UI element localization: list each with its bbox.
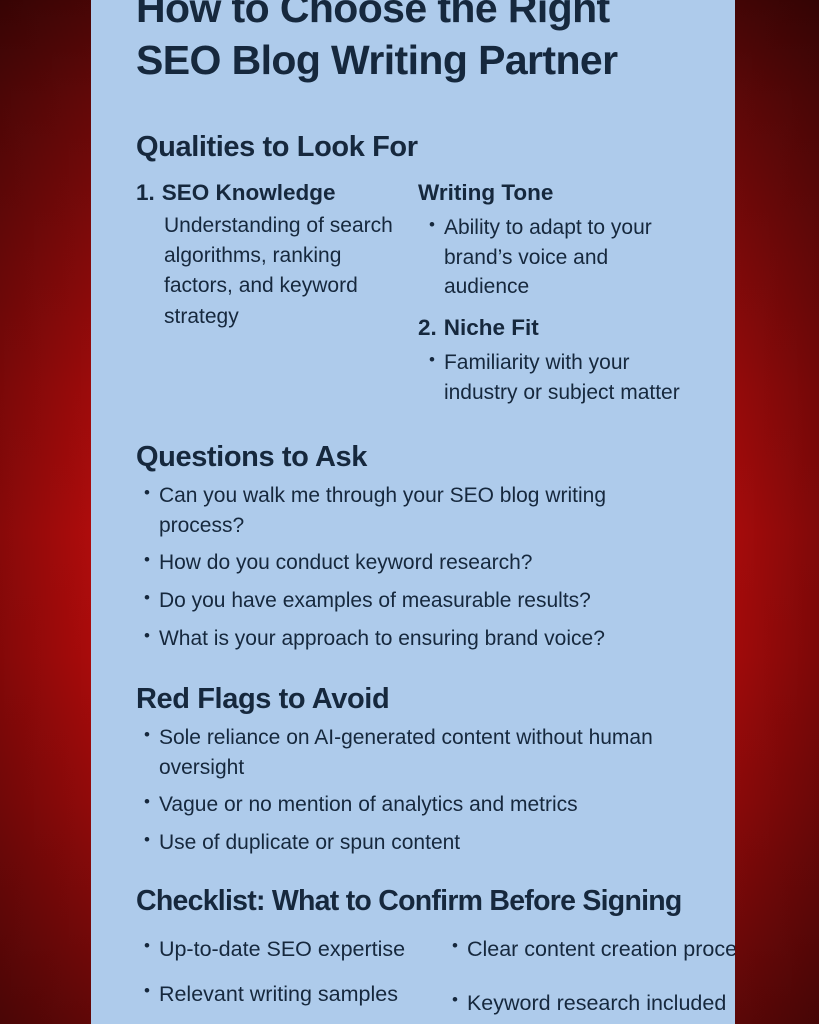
list-item: • What is your approach to ensuring bran…: [144, 624, 691, 654]
bullet-dot-icon: •: [144, 790, 150, 820]
list-item: • Keyword research included: [452, 988, 735, 1019]
bullet-dot-icon: •: [144, 934, 150, 965]
checklist-left-column: • Up-to-date SEO expertise • Relevant wr…: [136, 928, 436, 1024]
red-flags-list: • Sole reliance on AI-generated content …: [136, 723, 691, 858]
quality-item-title-niche-fit: 2. Niche Fit: [418, 314, 691, 342]
list-item: • How do you conduct keyword research?: [144, 548, 691, 578]
list-item: • Relevant writing samples: [144, 979, 436, 1010]
list-item-text: Familiarity with your industry or subjec…: [444, 348, 691, 408]
list-item-text: Ability to adapt to your brand’s voice a…: [444, 213, 691, 302]
list-item: • Use of duplicate or spun content: [144, 828, 691, 858]
checklist-right-column: • Clear content creation process • Keywo…: [444, 928, 735, 1024]
bullet-dot-icon: •: [144, 586, 150, 616]
section-heading-qualities: Qualities to Look For: [136, 130, 691, 165]
section-heading-questions: Questions to Ask: [136, 440, 691, 475]
bullet-dot-icon: •: [144, 723, 150, 783]
writing-tone-bullet-list: • Ability to adapt to your brand’s voice…: [418, 213, 691, 302]
list-item: • Up-to-date SEO expertise: [144, 934, 436, 965]
list-item-text: How do you conduct keyword research?: [159, 548, 533, 578]
list-item-text: Vague or no mention of analytics and met…: [159, 790, 578, 820]
section-heading-red-flags: Red Flags to Avoid: [136, 682, 691, 717]
qualities-left-column: 1. SEO Knowledge Understanding of search…: [136, 179, 404, 410]
quality-label: SEO Knowledge: [162, 179, 336, 207]
bullet-dot-icon: •: [144, 624, 150, 654]
list-item: • Do you have examples of measurable res…: [144, 586, 691, 616]
checklist-columns: • Up-to-date SEO expertise • Relevant wr…: [136, 928, 691, 1024]
quality-label: Niche Fit: [444, 314, 539, 342]
bullet-dot-icon: •: [144, 481, 150, 541]
list-item: • Vague or no mention of analytics and m…: [144, 790, 691, 820]
list-item: • Can you walk me through your SEO blog …: [144, 481, 691, 541]
questions-list: • Can you walk me through your SEO blog …: [136, 481, 691, 654]
bullet-dot-icon: •: [429, 348, 435, 408]
quality-description-seo-knowledge: Understanding of search algorithms, rank…: [136, 211, 404, 332]
list-item-text: Do you have examples of measurable resul…: [159, 586, 591, 616]
list-item-text: Clear content creation process: [467, 934, 735, 965]
list-item: • Sole reliance on AI-generated content …: [144, 723, 691, 783]
bullet-dot-icon: •: [144, 979, 150, 1010]
list-item-text: Use of duplicate or spun content: [159, 828, 460, 858]
quality-item-title-seo-knowledge: 1. SEO Knowledge: [136, 179, 404, 207]
qualities-right-column: Writing Tone • Ability to adapt to your …: [418, 179, 691, 410]
infographic-card: How to Choose the Right SEO Blog Writing…: [91, 0, 735, 1024]
page-title: How to Choose the Right SEO Blog Writing…: [136, 0, 691, 87]
list-item: • Familiarity with your industry or subj…: [429, 348, 691, 408]
bullet-dot-icon: •: [452, 934, 458, 965]
bullet-dot-icon: •: [452, 988, 458, 1019]
section-heading-checklist: Checklist: What to Confirm Before Signin…: [136, 884, 691, 918]
bullet-dot-icon: •: [144, 828, 150, 858]
checklist-right-list: • Clear content creation process • Keywo…: [452, 934, 735, 1024]
bullet-dot-icon: •: [144, 548, 150, 578]
quality-number: 2.: [418, 314, 437, 342]
quality-label: Writing Tone: [418, 179, 553, 207]
niche-fit-bullet-list: • Familiarity with your industry or subj…: [418, 348, 691, 408]
list-item: • Ability to adapt to your brand’s voice…: [429, 213, 691, 302]
checklist-left-list: • Up-to-date SEO expertise • Relevant wr…: [144, 934, 436, 1024]
list-item-text: Up-to-date SEO expertise: [159, 934, 405, 965]
list-item: • Clear content creation process: [452, 934, 735, 965]
list-item-text: What is your approach to ensuring brand …: [159, 624, 605, 654]
list-item-text: Can you walk me through your SEO blog wr…: [159, 481, 691, 541]
list-item-text: Sole reliance on AI-generated content wi…: [159, 723, 691, 783]
bullet-dot-icon: •: [429, 213, 435, 302]
quality-item-title-writing-tone: Writing Tone: [418, 179, 691, 207]
list-item-text: Keyword research included: [467, 988, 726, 1019]
qualities-columns: 1. SEO Knowledge Understanding of search…: [136, 179, 691, 410]
list-item-text: Relevant writing samples: [159, 979, 398, 1010]
quality-number: 1.: [136, 179, 155, 207]
